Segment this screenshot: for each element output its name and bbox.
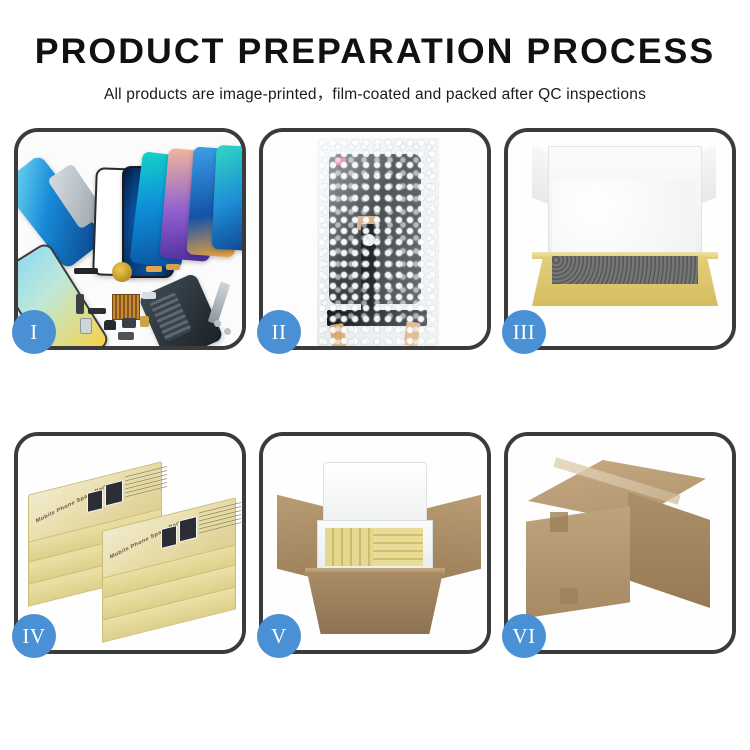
step-panel-4: Mobile Phone Spare Parts Mobile Phone Sp…	[14, 432, 246, 654]
page-subtitle: All products are image-printed，film-coat…	[0, 82, 750, 104]
phone-display-green-icon	[211, 145, 242, 251]
product-preparation-page: PRODUCT PREPARATION PROCESS All products…	[0, 0, 750, 750]
step-badge-5: V	[257, 614, 301, 658]
step-panel-5: V	[259, 432, 491, 654]
screw-grid-part-icon	[112, 294, 140, 320]
step-badge-1: I	[12, 310, 56, 354]
open-yellow-box-illustration	[508, 132, 732, 346]
box-window-icon	[161, 525, 177, 549]
part-icon	[166, 264, 180, 270]
phone-screens-parts-illustration	[18, 132, 242, 346]
step-image-1	[18, 132, 242, 346]
step-image-2	[263, 132, 487, 346]
sealed-carton-illustration	[508, 436, 732, 650]
part-icon	[74, 268, 98, 274]
carton-with-foam-illustration	[263, 436, 487, 650]
screw-icon	[214, 320, 221, 327]
step-image-3	[508, 132, 732, 346]
carton-front-face	[526, 506, 630, 618]
carton-seam	[560, 588, 578, 604]
step-badge-3: III	[502, 310, 546, 354]
foam-box-lid	[323, 462, 427, 526]
page-header: PRODUCT PREPARATION PROCESS All products…	[0, 0, 750, 104]
box-window-icon	[87, 489, 103, 513]
repair-tool-icon	[208, 281, 230, 324]
box-spec-lines	[125, 465, 167, 497]
box-stack: Mobile Phone Spare Parts Mobile Phone Sp…	[26, 452, 242, 644]
carton-seam	[550, 512, 568, 532]
part-icon	[76, 294, 84, 314]
part-icon	[122, 318, 136, 328]
step-image-6	[508, 436, 732, 650]
screw-icon	[224, 328, 231, 335]
step-badge-2: II	[257, 310, 301, 354]
plastic-sheen	[317, 138, 439, 346]
box-window-icon	[179, 516, 197, 542]
yellow-boxes-inside	[373, 528, 423, 566]
box-spec-lines	[199, 501, 241, 533]
carton-body	[307, 572, 443, 634]
part-icon	[140, 316, 149, 327]
stacked-boxes-illustration: Mobile Phone Spare Parts Mobile Phone Sp…	[18, 436, 242, 650]
step-badge-4: IV	[12, 614, 56, 658]
step-panel-2: II	[259, 128, 491, 350]
step-image-5	[263, 436, 487, 650]
part-icon	[104, 320, 116, 330]
box-window-icon	[105, 480, 123, 506]
part-icon	[88, 308, 106, 314]
bubble-wrapped-lcd-illustration	[263, 132, 487, 346]
process-steps-grid: I	[12, 128, 738, 654]
step-panel-1: I	[14, 128, 246, 350]
step-image-4: Mobile Phone Spare Parts Mobile Phone Sp…	[18, 436, 242, 650]
part-icon	[80, 318, 92, 334]
step-panel-6: VI	[504, 432, 736, 654]
bubble-wrap-bag	[317, 138, 439, 346]
part-icon	[146, 266, 162, 272]
bubble-wrapped-contents	[552, 256, 698, 284]
step-badge-6: VI	[502, 614, 546, 658]
speaker-part-icon	[112, 262, 132, 282]
part-icon	[118, 332, 134, 340]
page-title: PRODUCT PREPARATION PROCESS	[0, 34, 750, 69]
carton-side-face	[628, 492, 710, 608]
part-icon	[142, 292, 156, 299]
step-panel-3: III	[504, 128, 736, 350]
